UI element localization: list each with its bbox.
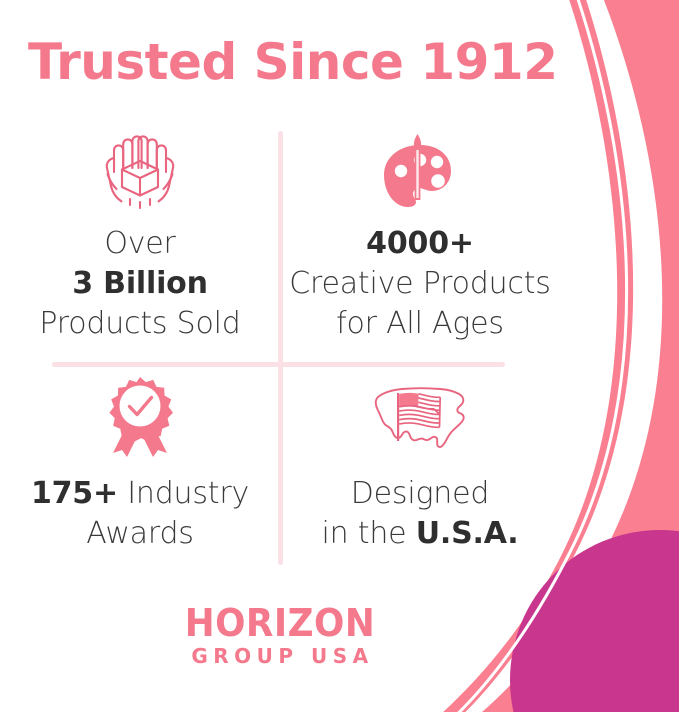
feature-cell-designed-in-usa: Designed in the U.S.A. bbox=[280, 374, 560, 570]
logo-wordmark: HORIZON bbox=[17, 604, 543, 642]
awards-label: Industry bbox=[118, 476, 249, 511]
paintbrush bbox=[413, 134, 421, 200]
logo-tagline: GROUP USA bbox=[0, 644, 560, 669]
flag-canton bbox=[399, 393, 418, 407]
feature-text-products-sold: Over 3 Billion Products Sold bbox=[39, 224, 240, 344]
flag-pole bbox=[397, 393, 399, 441]
feature-line-3: Products Sold bbox=[39, 304, 240, 344]
usa-bold: U.S.A. bbox=[416, 516, 519, 551]
hands-holding-box-icon bbox=[92, 126, 188, 216]
feature-grid: Over 3 Billion Products Sold bbox=[0, 126, 560, 570]
award-ribbon-icon bbox=[97, 374, 183, 460]
feature-line-2: 3 Billion bbox=[39, 264, 240, 304]
feature-text-industry-awards: 175+ Industry Awards bbox=[31, 474, 249, 554]
feature-line-1: 175+ Industry bbox=[31, 474, 249, 514]
feature-text-designed-in-usa: Designed in the U.S.A. bbox=[322, 474, 519, 554]
page-title: Trusted Since 1912 bbox=[28, 36, 558, 89]
awards-count: 175+ bbox=[31, 476, 118, 511]
usa-map-outline bbox=[376, 388, 464, 447]
feature-line-1: Designed bbox=[322, 474, 519, 514]
feature-cell-industry-awards: 175+ Industry Awards bbox=[0, 374, 280, 570]
feature-text-creative-products: 4000+ Creative Products for All Ages bbox=[289, 224, 550, 344]
feature-line-2: Creative Products bbox=[289, 264, 550, 304]
usa-prefix: in the bbox=[322, 516, 416, 551]
feature-line-1: Over bbox=[39, 224, 240, 264]
infographic-poster: Trusted Since 1912 bbox=[0, 0, 679, 712]
paint-palette-icon bbox=[375, 126, 465, 216]
feature-cell-creative-products: 4000+ Creative Products for All Ages bbox=[280, 126, 560, 348]
feature-cell-products-sold: Over 3 Billion Products Sold bbox=[0, 126, 280, 348]
usa-map-flag-icon bbox=[364, 374, 476, 460]
brand-logo: HORIZON GROUP USA bbox=[0, 604, 560, 669]
feature-line-2: Awards bbox=[31, 514, 249, 554]
feature-line-2: in the U.S.A. bbox=[322, 514, 519, 554]
feature-line-3: for All Ages bbox=[289, 304, 550, 344]
feature-line-1: 4000+ bbox=[289, 224, 550, 264]
